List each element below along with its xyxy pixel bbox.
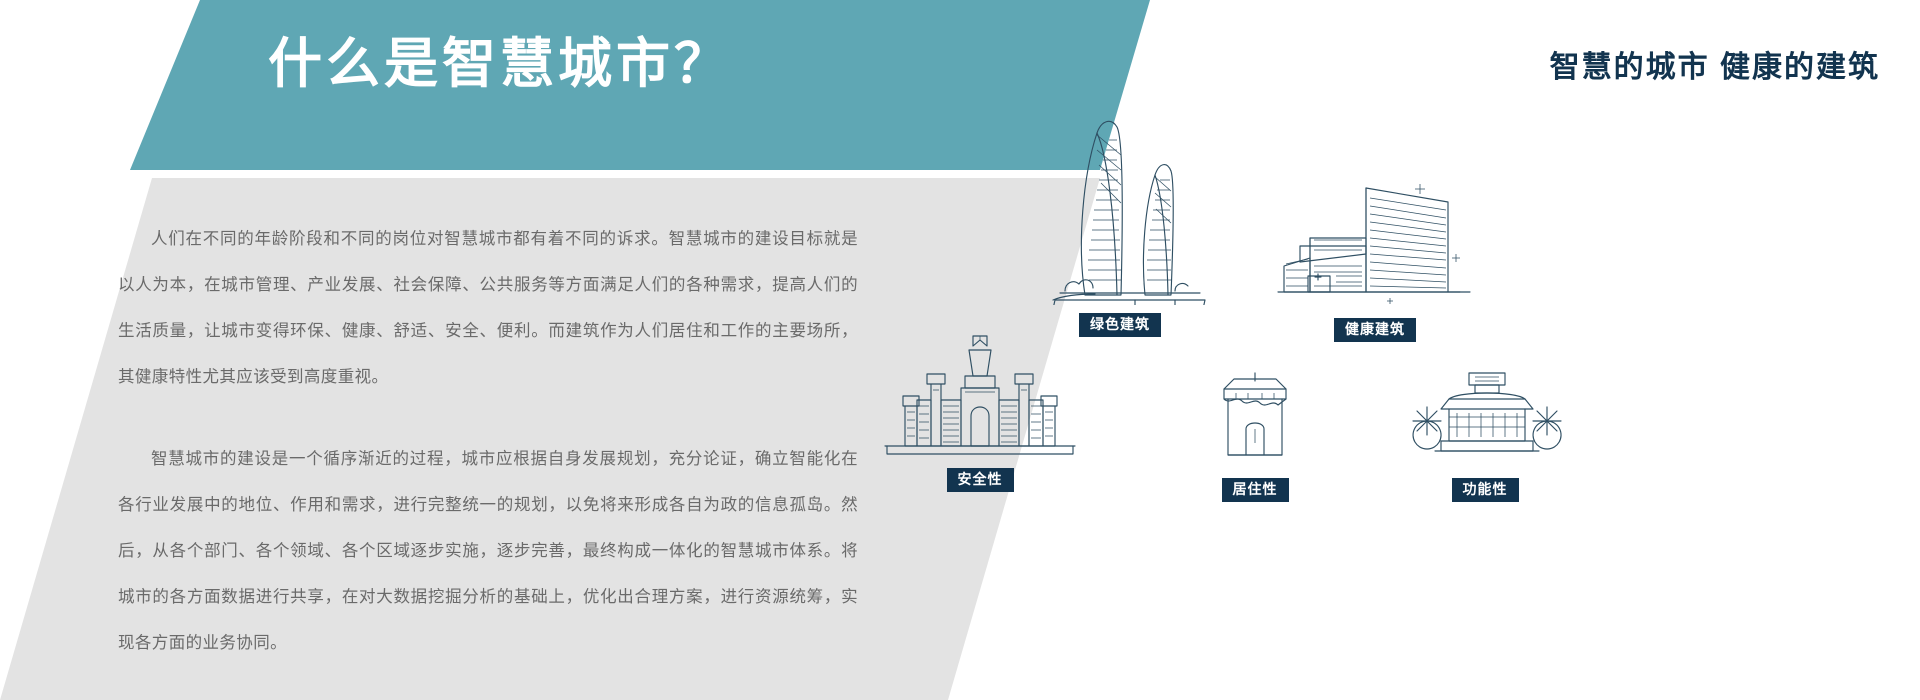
badge-safety: 安全性 [947,468,1014,492]
figure-safety: 安全性 [850,330,1110,492]
figure-green-building: 绿色建筑 [1005,95,1235,337]
body-text: 人们在不同的年龄阶段和不同的岗位对智慧城市都有着不同的诉求。智慧城市的建设目标就… [118,216,858,666]
figure-livability: 居住性 [1165,365,1345,502]
poster-canvas: 什么是智慧城市？ 智慧的城市 健康的建筑 人们在不同的年龄阶段和不同的岗位对智慧… [0,0,1920,700]
paragraph-1: 人们在不同的年龄阶段和不同的岗位对智慧城市都有着不同的诉求。智慧城市的建设目标就… [118,216,858,400]
figure-label-wrap: 健康建筑 [1260,318,1490,342]
figure-health-building: 健康建筑 [1260,180,1490,342]
figure-label-wrap: 功能性 [1380,478,1590,502]
badge-livability: 居住性 [1222,478,1289,502]
twin-towers-icon [1025,95,1215,305]
header-tagline: 智慧的城市 健康的建筑 [1550,42,1880,86]
house-tent-icon [1200,365,1310,470]
figure-label-wrap: 居住性 [1165,478,1345,502]
paragraph-2: 智慧城市的建设是一个循序渐近的过程，城市应根据自身发展规划，充分论证，确立智能化… [118,436,858,666]
badge-functionality: 功能性 [1452,478,1519,502]
hospital-complex-icon [1270,180,1480,310]
page-title: 什么是智慧城市？ [268,35,1008,94]
pavilion-icon [1405,365,1565,470]
castle-fortress-icon [865,330,1095,460]
figure-functionality: 功能性 [1380,365,1590,502]
illustration-group: 绿色建筑 [820,95,1920,700]
figure-label-wrap: 安全性 [850,468,1110,492]
badge-health-building: 健康建筑 [1334,318,1416,342]
